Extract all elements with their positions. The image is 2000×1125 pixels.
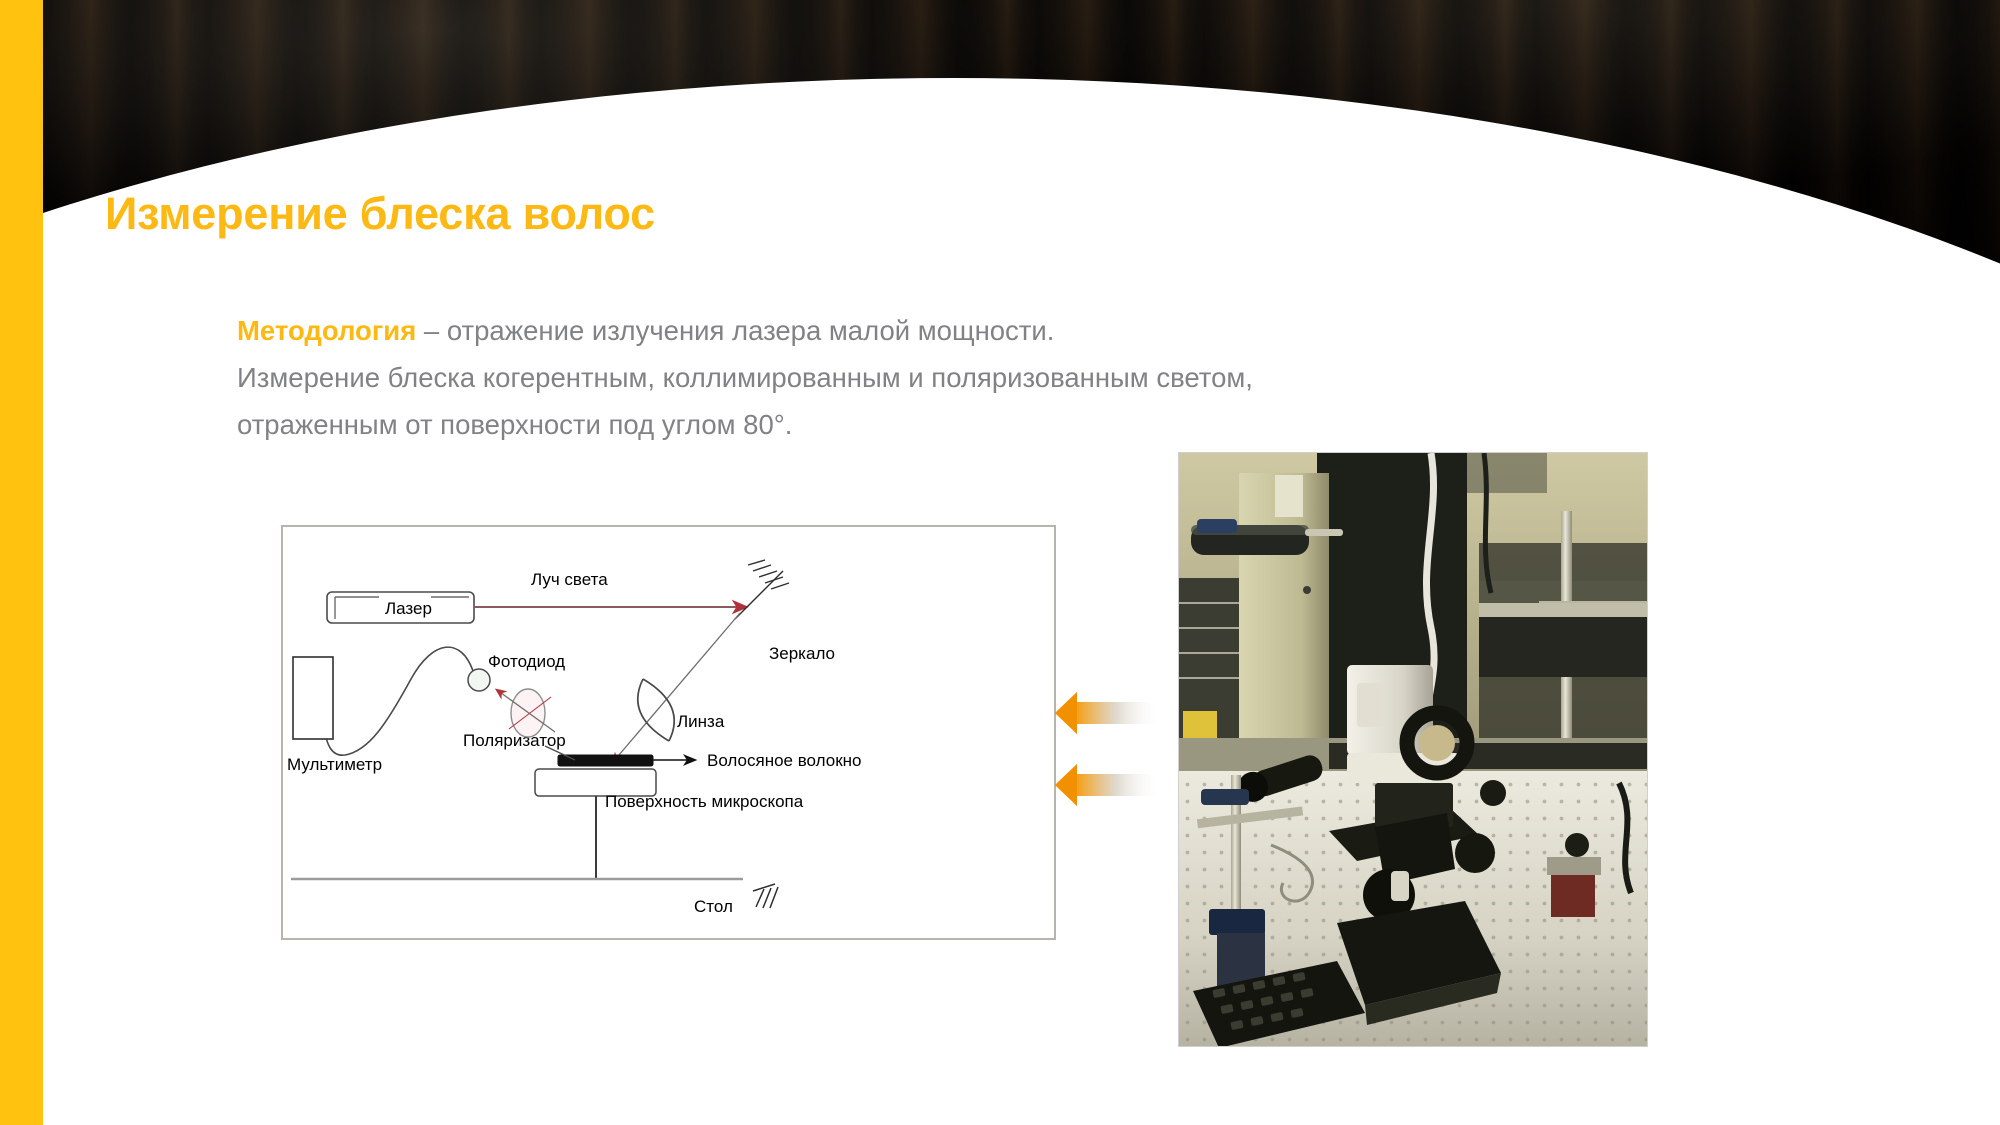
- mirror-shape: [735, 560, 789, 619]
- multimeter-shape: [293, 657, 333, 739]
- label-microscope-surface: Поверхность микроскопа: [605, 792, 804, 811]
- polarizer-disc-shape: [509, 689, 551, 737]
- methodology-line-1: Методология – отражение излучения лазера…: [237, 307, 1397, 354]
- label-hair-fiber: Волосяное волокно: [707, 751, 861, 770]
- slide-root: Измерение блеска волос Методология – отр…: [0, 0, 2000, 1125]
- methodology-text-block: Методология – отражение излучения лазера…: [237, 307, 1397, 448]
- signal-cable: [325, 647, 473, 755]
- label-mirror: Зеркало: [769, 644, 835, 663]
- methodology-line-2: Измерение блеска когерентным, коллимиров…: [237, 354, 1397, 401]
- methodology-keyword: Методология: [237, 315, 416, 346]
- page-title: Измерение блеска волос: [105, 188, 655, 240]
- lens-shape: [638, 679, 674, 741]
- label-photodiode: Фотодиод: [488, 652, 565, 671]
- label-multimeter: Мультиметр: [287, 755, 382, 774]
- callout-arrows-group: [1055, 690, 1160, 834]
- label-lens: Линза: [677, 712, 725, 731]
- callout-arrow-1: [1055, 690, 1160, 736]
- methodology-line-1-rest: – отражение излучения лазера малой мощно…: [416, 315, 1054, 346]
- microscope-stage-shape: [535, 755, 656, 879]
- methodology-line-3: отраженным от поверхности под углом 80°.: [237, 401, 1397, 448]
- label-polarizer: Поляризатор: [463, 731, 566, 750]
- photodiode-shape: [468, 669, 490, 691]
- callout-arrow-2: [1055, 762, 1160, 808]
- left-accent-bar: [0, 0, 43, 1125]
- table-hatch-icon: [753, 884, 778, 908]
- beam-mirror-to-sample: [613, 613, 740, 762]
- laboratory-setup-photo: [1178, 452, 1648, 1047]
- header-banner-image: [43, 0, 2000, 300]
- label-laser: Лазер: [385, 599, 432, 618]
- label-light-beam: Луч света: [531, 570, 608, 589]
- label-table: Стол: [694, 897, 733, 916]
- optical-setup-diagram: Лазер Луч света Зеркало: [281, 525, 1056, 940]
